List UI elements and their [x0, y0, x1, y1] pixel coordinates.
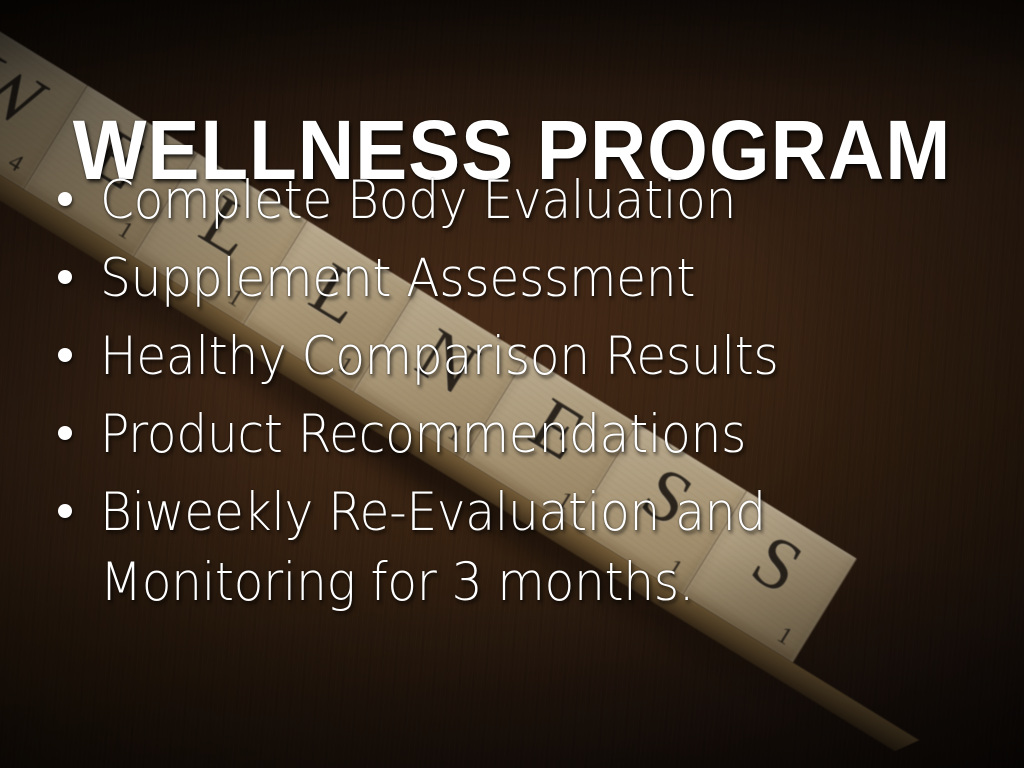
bullet-text: Complete Body Evaluation [100, 166, 913, 236]
bullet-dot-icon [58, 504, 72, 518]
bullet-dot-icon [58, 270, 72, 284]
bullet-text: Healthy Comparison Results [100, 322, 913, 392]
bullet-dot-icon [58, 426, 72, 440]
slide-content: WELLNESS PROGRAM Complete Body Evaluatio… [0, 0, 1024, 768]
bullet-dot-icon [58, 192, 72, 206]
list-item: Healthy Comparison Results [58, 322, 984, 392]
list-item: Supplement Assessment [58, 244, 984, 314]
list-item: Complete Body Evaluation [58, 166, 984, 236]
bullet-text: Product Recommendations [100, 400, 913, 470]
slide-canvas: W 4 E 1 L 1 L 1 N 1 E 1 S 1 S 1 [0, 0, 1024, 768]
list-item: Product Recommendations [58, 400, 984, 470]
bullet-text: Supplement Assessment [100, 244, 913, 314]
list-item: Biweekly Re-Evaluation and Monitoring fo… [58, 478, 984, 618]
bullet-dot-icon [58, 348, 72, 362]
bullet-list: Complete Body Evaluation Supplement Asse… [58, 166, 984, 626]
bullet-text: Biweekly Re-Evaluation and Monitoring fo… [100, 478, 913, 618]
